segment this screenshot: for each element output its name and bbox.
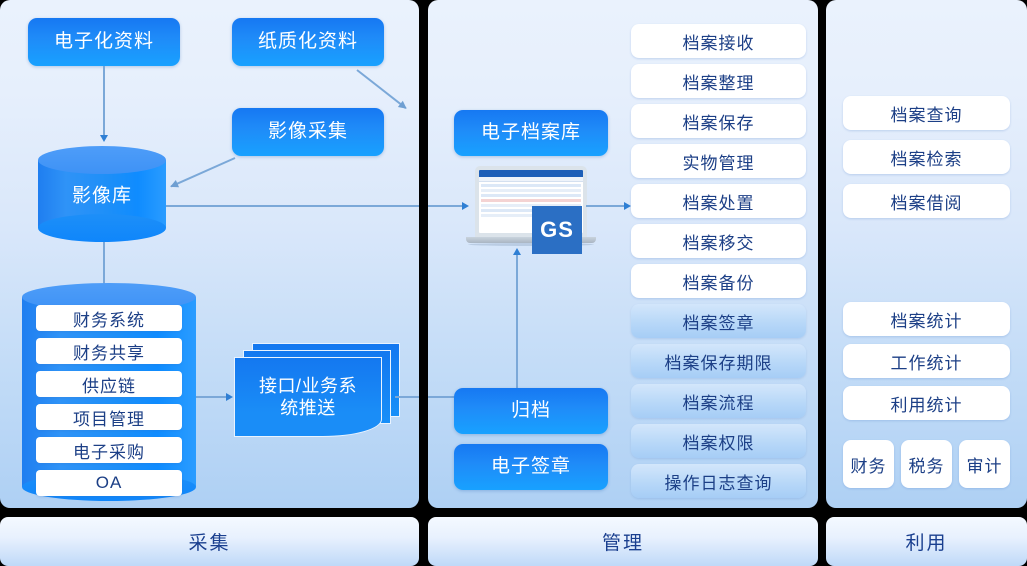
function-archive-receive[interactable]: 档案接收 — [631, 24, 806, 58]
use-item-label: 工作统计 — [891, 349, 963, 374]
use-item-label: 档案检索 — [891, 145, 963, 170]
archive-db-label: 电子档案库 — [481, 122, 581, 145]
function-label: 档案保存期限 — [665, 349, 773, 374]
architecture-diagram: 电子化资料 纸质化资料 影像采集 影像库 — [0, 0, 1027, 566]
use-tag-audit[interactable]: 审计 — [959, 440, 1010, 488]
source-box-paper-label: 纸质化资料 — [258, 31, 358, 54]
connector-capture-to-repo — [171, 157, 236, 187]
system-item-label: 财务系统 — [73, 306, 145, 331]
system-item-finance[interactable]: 财务系统 — [36, 305, 182, 331]
arrowhead-capture-to-repo — [169, 180, 180, 191]
use-item-work-stats[interactable]: 工作统计 — [843, 344, 1010, 378]
system-item-project-mgmt[interactable]: 项目管理 — [36, 404, 182, 430]
connector-electronic-to-repo — [103, 66, 105, 138]
function-label: 实物管理 — [683, 149, 755, 174]
footer-manage-label: 管理 — [602, 528, 644, 555]
function-archive-store[interactable]: 档案保存 — [631, 104, 806, 138]
use-item-archive-query[interactable]: 档案查询 — [843, 96, 1010, 130]
filing-label: 归档 — [511, 400, 551, 423]
connector-paper-to-capture — [356, 69, 406, 109]
filing-box[interactable]: 归档 — [454, 388, 608, 434]
function-archive-signature[interactable]: 档案签章 — [631, 304, 806, 338]
system-item-supply-chain[interactable]: 供应链 — [36, 371, 182, 397]
function-archive-transfer[interactable]: 档案移交 — [631, 224, 806, 258]
use-item-label: 档案统计 — [891, 307, 963, 332]
use-tag-label: 财务 — [851, 452, 887, 477]
system-item-label: 财务共享 — [73, 339, 145, 364]
image-capture-box[interactable]: 影像采集 — [232, 108, 384, 156]
connector-systems-to-push — [196, 396, 228, 398]
function-label: 档案流程 — [683, 389, 755, 414]
cylinder-top — [38, 146, 166, 174]
footer-manage[interactable]: 管理 — [428, 517, 818, 566]
system-item-label: 电子采购 — [73, 438, 145, 463]
connector-push-to-filing — [395, 396, 419, 398]
function-archive-workflow[interactable]: 档案流程 — [631, 384, 806, 418]
footer-use-label: 利用 — [905, 528, 947, 555]
use-item-usage-stats[interactable]: 利用统计 — [843, 386, 1010, 420]
footer-collect[interactable]: 采集 — [0, 517, 419, 566]
function-label: 档案处置 — [683, 189, 755, 214]
function-label: 档案移交 — [683, 229, 755, 254]
interface-push-line2: 统推送 — [280, 398, 336, 418]
archive-db-box[interactable]: 电子档案库 — [454, 110, 608, 156]
function-label: 档案权限 — [683, 429, 755, 454]
source-box-paper[interactable]: 纸质化资料 — [232, 18, 384, 66]
use-item-archive-stats[interactable]: 档案统计 — [843, 302, 1010, 336]
use-item-archive-search[interactable]: 档案检索 — [843, 140, 1010, 174]
connector-filing-to-laptop — [516, 252, 518, 389]
function-label: 档案接收 — [683, 29, 755, 54]
footer-use[interactable]: 利用 — [826, 517, 1027, 566]
function-archive-permission[interactable]: 档案权限 — [631, 424, 806, 458]
function-operation-log-query[interactable]: 操作日志查询 — [631, 464, 806, 498]
use-item-label: 利用统计 — [891, 391, 963, 416]
interface-push-cards[interactable]: 接口/业务系 统推送 — [234, 343, 406, 443]
use-tag-label: 审计 — [967, 452, 1003, 477]
interface-push-label: 接口/业务系 统推送 — [234, 357, 382, 437]
function-label: 档案签章 — [683, 309, 755, 334]
function-archive-backup[interactable]: 档案备份 — [631, 264, 806, 298]
source-box-electronic-label: 电子化资料 — [54, 31, 154, 54]
arrowhead-electronic-to-repo — [100, 135, 108, 142]
function-physical-mgmt[interactable]: 实物管理 — [631, 144, 806, 178]
function-label: 档案整理 — [683, 69, 755, 94]
system-item-label: 供应链 — [82, 372, 136, 397]
connector-repo-to-archive-cont — [428, 205, 464, 207]
laptop-icon: GS — [466, 166, 596, 248]
function-archive-organize[interactable]: 档案整理 — [631, 64, 806, 98]
system-item-finance-share[interactable]: 财务共享 — [36, 338, 182, 364]
system-item-label: OA — [96, 473, 123, 493]
e-signature-label: 电子签章 — [491, 456, 571, 479]
panel-collect: 电子化资料 纸质化资料 影像采集 影像库 — [0, 0, 419, 508]
arrowhead-filing-to-laptop — [513, 248, 521, 255]
interface-push-line1: 接口/业务系 — [259, 376, 357, 396]
connector-repo-to-systems — [103, 242, 105, 288]
panel-manage: 电子档案库 GS — [428, 0, 818, 508]
use-tag-finance[interactable]: 财务 — [843, 440, 894, 488]
panel-use: 档案查询 档案检索 档案借阅 档案统计 工作统计 利用统计 财务 税务 审计 — [826, 0, 1027, 508]
function-retention-period[interactable]: 档案保存期限 — [631, 344, 806, 378]
e-signature-box[interactable]: 电子签章 — [454, 444, 608, 490]
image-repository-cylinder[interactable]: 影像库 — [38, 146, 166, 242]
use-item-label: 档案借阅 — [891, 189, 963, 214]
system-item-oa[interactable]: OA — [36, 470, 182, 496]
gs-logo-text: GS — [540, 217, 574, 243]
connector-laptop-to-functions — [586, 205, 628, 207]
function-label: 操作日志查询 — [665, 469, 773, 494]
image-repository-label: 影像库 — [38, 181, 166, 208]
image-capture-label: 影像采集 — [268, 121, 348, 144]
arrowhead-laptop-to-functions — [624, 202, 631, 210]
system-item-label: 项目管理 — [73, 405, 145, 430]
use-item-label: 档案查询 — [891, 101, 963, 126]
source-box-electronic[interactable]: 电子化资料 — [28, 18, 180, 66]
connector-repo-to-archive — [166, 205, 419, 207]
app-titlebar — [479, 170, 583, 177]
arrowhead-paper-to-capture — [398, 101, 409, 112]
use-tag-tax[interactable]: 税务 — [901, 440, 952, 488]
gs-logo-icon: GS — [532, 206, 582, 254]
arrowhead-systems-to-push — [226, 393, 233, 401]
function-label: 档案备份 — [683, 269, 755, 294]
function-label: 档案保存 — [683, 109, 755, 134]
system-item-e-procurement[interactable]: 电子采购 — [36, 437, 182, 463]
use-tag-label: 税务 — [909, 452, 945, 477]
footer-collect-label: 采集 — [188, 528, 230, 555]
use-item-archive-borrow[interactable]: 档案借阅 — [843, 184, 1010, 218]
cylinder-bottom — [38, 214, 166, 242]
function-archive-disposal[interactable]: 档案处置 — [631, 184, 806, 218]
